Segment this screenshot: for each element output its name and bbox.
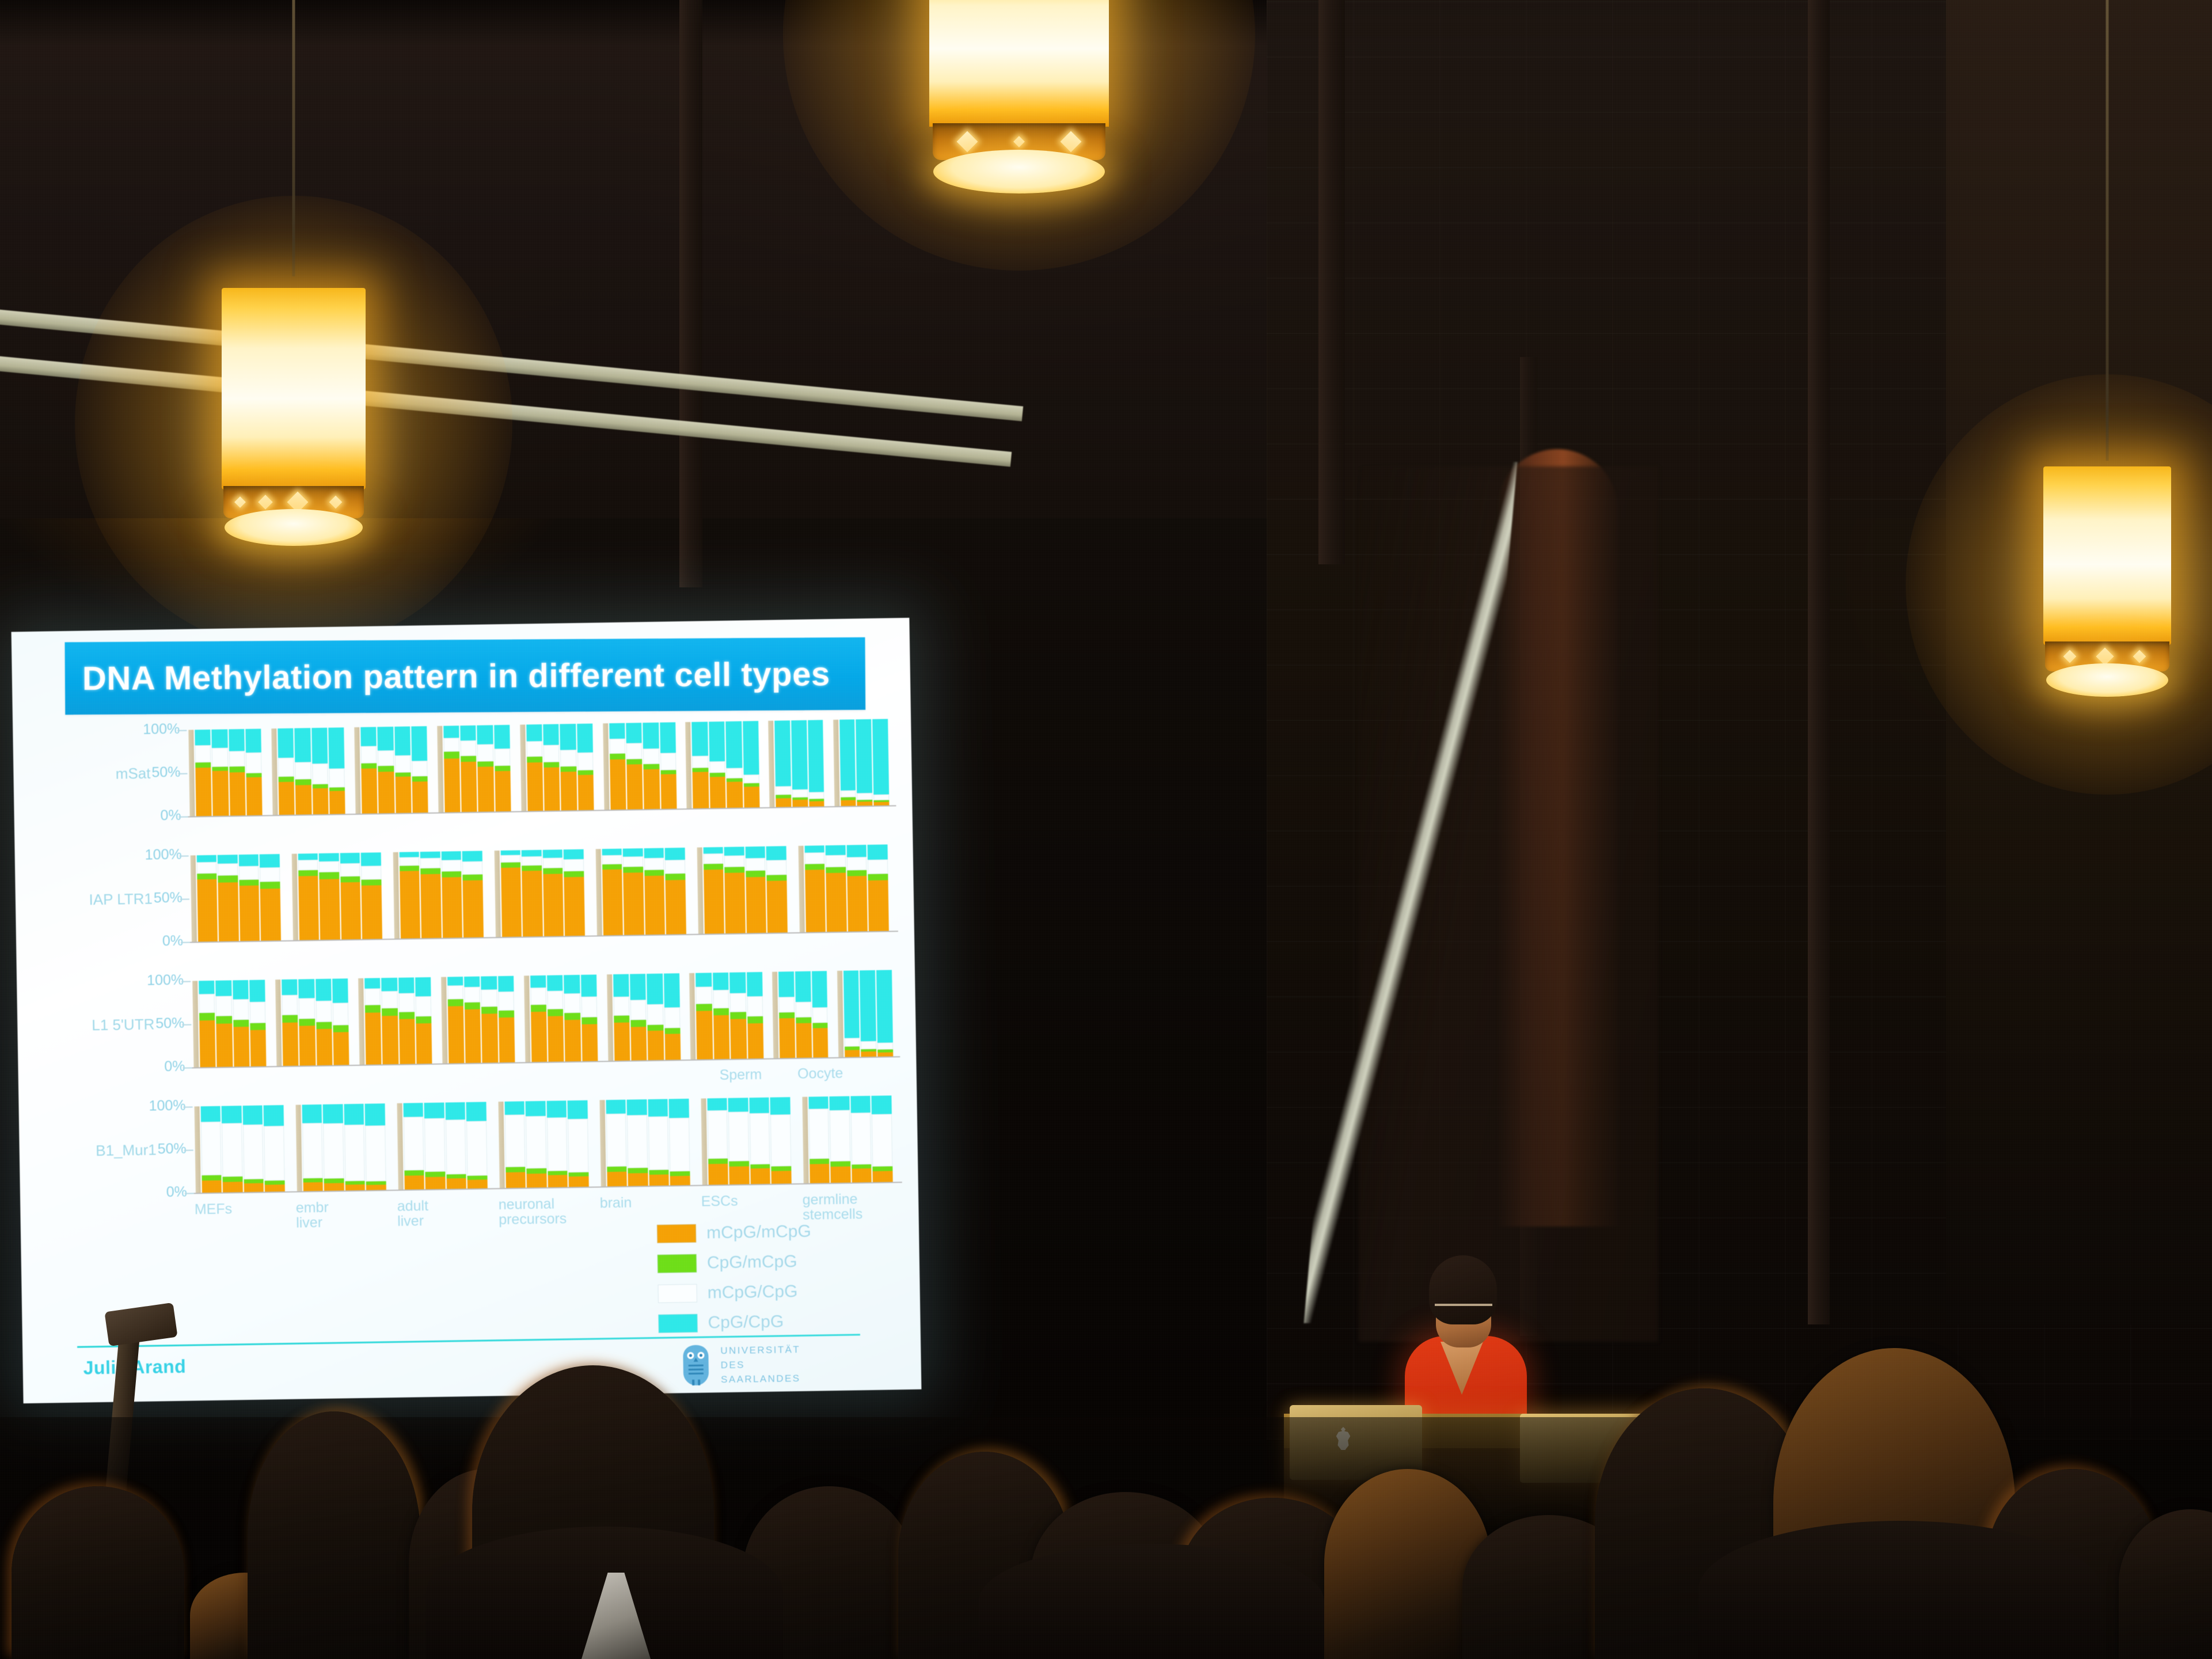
bar-segment (360, 727, 377, 746)
group-separator (607, 974, 613, 1061)
x-axis-tick-label: ESCs (701, 1193, 738, 1210)
legend-item: mCpG/CpG (657, 1278, 812, 1307)
bar-segment (743, 775, 759, 783)
bar-segment (441, 851, 461, 860)
bar-segment (312, 763, 328, 784)
stacked-bar (278, 728, 295, 815)
bar-segment (378, 772, 395, 813)
bar-segment (610, 760, 626, 810)
stacked-bar (394, 726, 412, 813)
bar-segment (328, 727, 344, 768)
stacked-bar (839, 719, 856, 806)
bar-segment (746, 871, 766, 877)
stacked-bar (660, 722, 677, 808)
stacked-bar (564, 849, 585, 936)
bar-segment (868, 859, 888, 874)
bar-segment (249, 980, 265, 1001)
bar-segment (295, 785, 311, 814)
bar-segment (382, 990, 398, 1008)
stacked-bar (542, 849, 564, 936)
bar-segment (506, 1172, 526, 1188)
group-separator (599, 1100, 606, 1186)
stacked-bar (504, 1101, 526, 1188)
bar-group (596, 848, 686, 935)
bar-segment (809, 1164, 830, 1183)
group-separator (498, 1102, 504, 1188)
stacked-bar (316, 979, 333, 1065)
stacked-bar (522, 850, 543, 937)
ceiling-beam-1 (679, 0, 702, 587)
bar-segment (727, 781, 743, 807)
bar-segment (197, 873, 217, 879)
bar-segment (648, 1099, 668, 1117)
bar-segment (316, 979, 332, 1001)
bar-segment (623, 856, 643, 867)
lamp-perforation (329, 496, 343, 509)
bar-segment (201, 1122, 222, 1176)
stacked-bar (460, 726, 477, 812)
bar-segment (282, 1015, 298, 1023)
bar-segment (660, 774, 676, 808)
bar-segment (295, 762, 311, 779)
stacked-bar (360, 727, 378, 813)
stacked-bar (543, 724, 560, 810)
bar-segment (382, 1008, 398, 1016)
chart-legend: mCpG/mCpGCpG/mCpGmCpG/CpGCpG/CpG (657, 1218, 813, 1341)
bar-segment (602, 855, 622, 864)
bar-segment (282, 1023, 299, 1066)
bar-segment (745, 846, 765, 858)
stacked-bar (791, 720, 808, 807)
bar-segment (547, 990, 563, 1009)
bar-segment (229, 772, 246, 815)
bar-segment (666, 874, 686, 880)
bar-segment (242, 1106, 263, 1125)
bar-segment (463, 880, 484, 938)
bar-segment (648, 1024, 664, 1031)
bar-segment (197, 879, 218, 942)
stacked-bar (332, 978, 349, 1065)
bar-segment (796, 1001, 811, 1017)
bar-segment (278, 728, 294, 758)
stacked-bar (669, 1099, 690, 1186)
bar-segment (394, 726, 411, 755)
bar-segment (841, 790, 856, 797)
bar-segment (460, 726, 476, 741)
y-axis-tick-mark (179, 817, 188, 818)
bar-segment (398, 993, 415, 1012)
stacked-bar (298, 979, 316, 1065)
bar-segment (504, 1101, 525, 1114)
bar-segment (868, 880, 889, 931)
bar-segment (424, 1103, 444, 1119)
bar-segment (812, 1028, 828, 1057)
bar-segment (461, 740, 477, 756)
bar-segment (299, 1026, 316, 1065)
bar-segment (195, 768, 212, 816)
bar-segment (278, 758, 294, 777)
bar-segment (377, 727, 393, 750)
bar-segment (530, 975, 546, 988)
stacked-bar (627, 1099, 648, 1186)
stacked-bar (222, 1106, 243, 1193)
bar-segment (298, 853, 318, 860)
bar-segment (644, 870, 664, 876)
bar-segment (724, 867, 744, 873)
group-separator (772, 972, 778, 1058)
lamp-body-right (2043, 466, 2171, 645)
lamp-perforation (258, 495, 272, 509)
stacked-bar (420, 852, 442, 939)
bar-segment (796, 1023, 812, 1058)
x-axis-category: neuronalprecursors (499, 1196, 567, 1227)
pendant-lamp-right (2009, 455, 2205, 766)
bar-segment (404, 1175, 424, 1190)
stacked-bar (872, 719, 889, 805)
bar-segment (468, 1179, 488, 1189)
bar-segment (804, 845, 824, 853)
bar-group (358, 977, 432, 1065)
stacked-bar (775, 720, 792, 807)
bar-segment (260, 882, 280, 889)
stacked-bar (400, 852, 421, 939)
bar-segment (613, 974, 629, 997)
bar-segment (647, 1004, 663, 1024)
stacked-bar (218, 855, 239, 942)
stacked-bar (229, 729, 246, 815)
lamp-perforation (1013, 136, 1025, 147)
stacked-bar (795, 971, 812, 1058)
bar-segment (561, 766, 577, 771)
bar-segment (826, 873, 847, 932)
bar-segment (561, 771, 577, 810)
bar-group (498, 1100, 588, 1188)
slide-title-bar: DNA Methylation pattern in different cel… (65, 637, 866, 715)
bar-segment (644, 857, 664, 870)
bar-segment (298, 876, 319, 940)
bar-segment (857, 801, 873, 806)
y-axis-tick-mark (183, 1067, 192, 1068)
group-separator (194, 1106, 200, 1193)
page-title: DNA Methylation pattern in different cel… (65, 655, 830, 698)
bar-segment (805, 852, 825, 864)
stacked-bar (568, 1100, 589, 1187)
bar-segment (365, 1012, 382, 1064)
bar-segment (218, 855, 238, 864)
stacked-bar (530, 975, 548, 1062)
bar-segment (542, 849, 562, 857)
group-separator (686, 722, 692, 808)
stacked-bar (282, 980, 299, 1066)
bar-segment (770, 1097, 790, 1115)
bar-segment (860, 970, 876, 1041)
bar-segment (501, 867, 522, 937)
chart-panel-msat: mSat100%50%0% (13, 719, 912, 830)
legend-label: mCpG/CpG (707, 1282, 797, 1303)
bar-segment (548, 1009, 564, 1016)
bar-segment (606, 1114, 627, 1167)
bar-segment (378, 750, 394, 765)
bar-segment (260, 854, 280, 867)
lamp-bottom-disc-right (2046, 663, 2168, 697)
y-axis-tick-label: 0% (166, 1184, 188, 1201)
stacked-bar (462, 851, 484, 938)
bar-segment (344, 1125, 365, 1181)
bar-segment (233, 1027, 249, 1066)
bar-segment (630, 1000, 647, 1020)
bar-segment (412, 761, 428, 776)
bar-segment (767, 880, 788, 933)
y-axis-tick-mark (177, 730, 187, 731)
bar-segment (526, 741, 542, 756)
bar-segment (841, 800, 856, 806)
bar-segment (795, 971, 811, 1002)
group-separator (393, 852, 400, 939)
stacked-bar (623, 848, 644, 935)
y-axis-tick-label: 0% (162, 933, 184, 950)
stacked-bar (743, 721, 760, 807)
bar-segment (847, 870, 867, 876)
bar-group (495, 849, 585, 937)
chart-panel-b1-mur1: B1_Mur1100%50%0% (19, 1095, 918, 1207)
bar-segment (498, 976, 514, 992)
bar-segment (361, 865, 381, 880)
bar-segment (809, 792, 824, 799)
group-separator (295, 1105, 302, 1191)
panel-plot (192, 1095, 902, 1194)
stacked-bar (564, 975, 581, 1061)
stacked-bar (445, 1102, 466, 1189)
bar-segment (446, 1119, 466, 1174)
bar-segment (704, 853, 724, 864)
stacked-bar (830, 1096, 851, 1183)
bar-group (191, 854, 281, 942)
bar-segment (466, 1121, 487, 1175)
owl-crest-icon (679, 1343, 713, 1388)
bar-segment (303, 1182, 324, 1191)
bar-group (689, 972, 763, 1060)
stacked-bar (340, 853, 361, 940)
bar-segment (229, 766, 245, 772)
bar-segment (362, 879, 382, 886)
group-separator (837, 971, 843, 1057)
chart-panel-iap-ltr1: IAP LTR1100%50%0% (15, 844, 914, 956)
bar-segment (665, 848, 685, 860)
bar-segment (607, 1171, 627, 1186)
x-axis-tick-label: stemcells (803, 1206, 863, 1223)
group-separator (701, 1098, 707, 1185)
stacked-bar (242, 1106, 264, 1193)
bar-segment (526, 1115, 546, 1168)
bar-segment (400, 871, 420, 939)
bar-group (520, 723, 594, 811)
group-separator (397, 1103, 403, 1190)
projection-screen: DNA Methylation pattern in different cel… (12, 618, 922, 1403)
bar-segment (495, 765, 511, 770)
bar-segment (302, 1104, 322, 1123)
bar-segment (852, 1168, 872, 1183)
stacked-bar (695, 973, 713, 1059)
bar-segment (664, 1034, 681, 1060)
bar-segment (845, 1050, 860, 1057)
group-separator (833, 720, 839, 806)
bar-segment (415, 977, 431, 996)
stacked-bar (381, 978, 398, 1064)
bar-segment (626, 723, 642, 743)
group-separator (441, 977, 447, 1064)
bar-segment (420, 852, 440, 858)
bar-segment (861, 1041, 876, 1049)
bar-group (599, 1099, 690, 1186)
y-axis-tick-label: 50% (157, 1141, 186, 1158)
bar-segment (229, 750, 245, 766)
stacked-bar (344, 1104, 365, 1191)
bar-segment (776, 798, 792, 807)
ceiling-beam-2 (1318, 0, 1345, 564)
bar-segment (421, 874, 442, 939)
bar-segment (199, 1020, 216, 1067)
bar-segment (329, 791, 345, 814)
bar-segment (448, 1006, 465, 1063)
stacked-bar (728, 1098, 750, 1185)
stacked-bar (846, 845, 868, 932)
bar-segment (747, 996, 763, 1016)
y-axis-tick-label: 100% (147, 972, 184, 989)
bar-segment (664, 1028, 681, 1034)
bar-segment (246, 752, 262, 773)
stacked-bar (860, 970, 876, 1057)
stacked-bar (812, 971, 828, 1057)
bar-segment (724, 855, 744, 867)
bar-segment (447, 999, 463, 1006)
bar-segment (477, 725, 493, 744)
bar-segment (344, 1104, 364, 1125)
stacked-bar (713, 973, 730, 1059)
stacked-bar (398, 977, 416, 1064)
stacked-bar (630, 974, 647, 1060)
panel-row-label: B1_Mur1 (53, 1141, 157, 1160)
bar-segment (299, 998, 315, 1019)
stacked-bar (843, 970, 860, 1057)
stacked-bar (377, 727, 394, 813)
bar-segment (501, 855, 521, 863)
presentation-slide: DNA Methylation pattern in different cel… (12, 618, 922, 1403)
bar-segment (713, 973, 729, 990)
bar-segment (750, 1113, 770, 1164)
methylation-chart: mSat100%50%0%IAP LTR1100%50%0%L1 5'UTR10… (13, 719, 919, 1251)
bar-segment (239, 879, 259, 886)
stacked-bar (745, 846, 766, 933)
bar-segment (564, 877, 585, 936)
bar-group (192, 980, 267, 1067)
group-separator (495, 851, 501, 937)
bar-segment (812, 971, 828, 1007)
group-separator (769, 721, 775, 807)
bar-segment (644, 764, 660, 769)
stacked-bar (298, 853, 320, 940)
bar-segment (416, 1016, 432, 1023)
y-axis: 100%50%0% (128, 730, 180, 731)
bar-segment (212, 747, 228, 766)
bar-segment (282, 995, 298, 1015)
bar-segment (319, 861, 339, 872)
bar-segment (499, 1011, 515, 1018)
bar-segment (877, 1052, 893, 1057)
stacked-bar (199, 981, 216, 1067)
bar-segment (323, 1123, 344, 1179)
bar-segment (581, 1017, 598, 1024)
bar-segment (730, 993, 746, 1012)
bar-segment (873, 802, 889, 805)
bar-segment (809, 801, 824, 806)
bar-segment (461, 756, 477, 762)
lamp-perforation (234, 496, 246, 508)
stacked-bar (477, 725, 495, 811)
bar-segment (398, 977, 415, 993)
bar-segment (238, 855, 259, 866)
y-axis-tick-mark (178, 773, 187, 775)
bar-segment (861, 1051, 876, 1057)
bar-segment (494, 725, 510, 749)
x-axis-category: MEFs (195, 1201, 233, 1217)
stacked-bar (328, 727, 345, 814)
panel-plot (189, 970, 900, 1068)
bar-segment (876, 970, 893, 1042)
stacked-bar (215, 980, 233, 1066)
bar-segment (250, 1030, 267, 1066)
bar-segment (361, 763, 377, 768)
bar-segment (245, 729, 261, 753)
bar-segment (609, 723, 625, 739)
stacked-bar (643, 723, 660, 809)
stacked-bar (319, 853, 340, 940)
y-axis-tick-mark (180, 899, 189, 900)
bar-segment (560, 724, 576, 750)
stacked-bar (403, 1103, 424, 1190)
bar-segment (669, 1099, 689, 1118)
y-axis-tick-mark (182, 1024, 191, 1026)
bar-segment (747, 1016, 763, 1023)
bar-segment (826, 867, 846, 873)
bar-segment (522, 850, 542, 856)
stacked-bar (709, 722, 726, 808)
bar-segment (609, 739, 625, 754)
stacked-bar (365, 1103, 386, 1190)
bar-segment (664, 1007, 681, 1028)
bar-segment (195, 730, 211, 745)
bar-segment (627, 1115, 648, 1168)
bar-segment (602, 849, 622, 855)
bar-segment (796, 1017, 811, 1023)
bar-segment (333, 1025, 349, 1032)
bar-segment (708, 1164, 728, 1185)
bar-segment (260, 889, 281, 941)
x-axis-tick-label: embr (296, 1199, 329, 1216)
bar-group (441, 976, 515, 1064)
bar-segment (395, 776, 411, 813)
stacked-bar (747, 972, 764, 1058)
bar-segment (311, 728, 328, 764)
bar-segment (805, 864, 825, 870)
bar-segment (403, 1103, 423, 1117)
y-axis-tick-label: 100% (143, 721, 180, 738)
bar-segment (499, 1018, 515, 1062)
y-axis: 100%50%0% (130, 856, 182, 856)
bar-segment (547, 1117, 568, 1171)
bar-segment (244, 1183, 264, 1193)
bar-segment (481, 976, 497, 989)
legend-swatch (657, 1224, 696, 1243)
